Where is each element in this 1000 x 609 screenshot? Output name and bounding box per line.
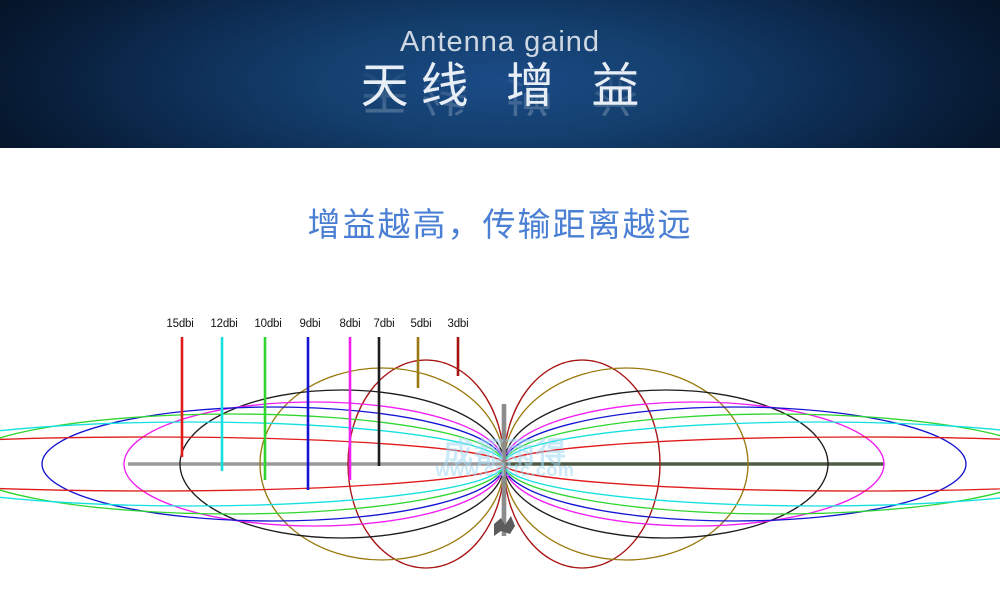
- legend-label-8dbi: 8dbi: [340, 318, 361, 330]
- legend-label-9dbi: 9dbi: [300, 318, 321, 330]
- legend-label-7dbi: 7dbi: [374, 318, 395, 330]
- legend-label-10dbi: 10dbi: [254, 318, 281, 330]
- legend-label-5dbi: 5dbi: [411, 318, 432, 330]
- antenna-pattern-diagram: 15dbi12dbi10dbi9dbi8dbi7dbi5dbi3dbi 成都雨得…: [0, 0, 1000, 609]
- legend-label-12dbi: 12dbi: [210, 318, 237, 330]
- legend-label-3dbi: 3dbi: [448, 318, 469, 330]
- radiation-pattern-svg: [0, 0, 1000, 609]
- legend-label-15dbi: 15dbi: [166, 318, 193, 330]
